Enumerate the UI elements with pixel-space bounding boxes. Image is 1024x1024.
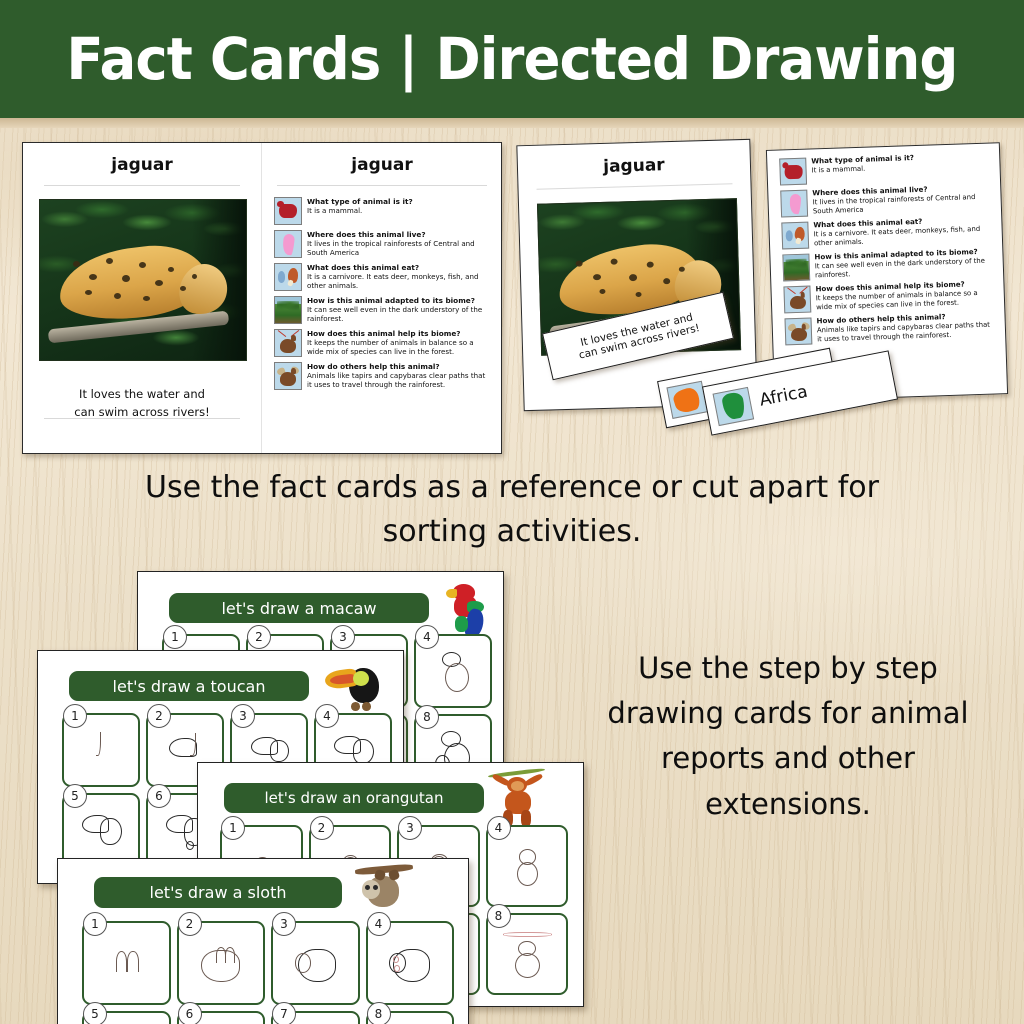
drawing-step-number: 6: [178, 1002, 202, 1024]
caption-line-1: It loves the water and: [23, 386, 261, 404]
fact-card-question: Where does this animal live?: [307, 230, 490, 239]
drawing-step-box[interactable]: 4: [486, 825, 569, 907]
cow-icon: [274, 197, 302, 225]
fact-card-answer: It keeps the number of animals in balanc…: [307, 338, 490, 356]
drawing-step-number: 8: [487, 904, 511, 928]
drawing-step-number: 5: [83, 1002, 107, 1024]
fact-card-qa-row: What type of animal is it?It is a mammal…: [274, 197, 490, 225]
fact-card-answer: It lives in the tropical rainforests of …: [307, 239, 490, 257]
fact-card-question: What does this animal eat?: [307, 263, 490, 272]
blurb-line-2: sorting activities.: [62, 510, 962, 554]
drawing-step-number: 7: [272, 1002, 296, 1024]
rabbit-arrows-icon: [274, 329, 302, 357]
fact-card-answer: Animals like tapirs and capybaras clear …: [307, 371, 490, 389]
poster-stage: Fact Cards | Directed Drawing jaguar: [0, 0, 1024, 1024]
drawing-step-number: 4: [487, 816, 511, 840]
fact-card-title: jaguar: [23, 155, 261, 175]
drawing-step-sketch: [500, 838, 553, 894]
jaguar-photo: [39, 199, 247, 361]
jaguar-spots: [40, 200, 246, 360]
drawing-step-box[interactable]: 8: [486, 913, 569, 995]
blurb-drawing-cards: Use the step by step drawing cards for a…: [578, 646, 998, 827]
drawing-step-number: 1: [221, 816, 245, 840]
fish-and-meat-icon: [274, 263, 302, 291]
rabbit-birds-icon: [274, 362, 302, 390]
fact-card-qa-row: How does this animal help its biome?It k…: [783, 279, 994, 313]
fact-card-qa-text: What does this animal eat?It is a carniv…: [813, 216, 992, 249]
fact-card-photo-page: jaguar: [23, 143, 261, 453]
cut-strip-label: Africa: [758, 382, 809, 411]
drawing-step-sketch: [98, 934, 155, 992]
drawing-step-sketch: [76, 725, 126, 775]
fact-card-qa-row: Where does this animal live?It lives in …: [780, 184, 991, 218]
divider: [537, 183, 733, 189]
divider: [277, 185, 487, 186]
drawing-card-banner: let's draw a toucan: [69, 671, 309, 701]
fact-card-spread[interactable]: jaguar: [22, 142, 502, 454]
drawing-step-sketch: [428, 646, 478, 696]
fact-card-qa-page: jaguar What type of animal is it?It is a…: [261, 143, 502, 453]
fact-card-qa-text: What does this animal eat?It is a carniv…: [307, 263, 490, 291]
drawing-step-number: 3: [398, 816, 422, 840]
fact-card-qa-row: Where does this animal live?It lives in …: [274, 230, 490, 258]
drawing-step-box[interactable]: 2: [177, 921, 266, 1005]
drawing-step-box[interactable]: 1: [82, 921, 171, 1005]
fact-card-qa-text: How do others help this animal?Animals l…: [816, 311, 995, 344]
drawing-step-sketch: [500, 926, 553, 982]
header-banner: Fact Cards | Directed Drawing: [0, 0, 1024, 118]
fact-card-qa-list: What type of animal is it?It is a mammal…: [779, 152, 995, 351]
caption-line-2: can swim across rivers!: [23, 404, 261, 422]
rabbit-birds-icon: [784, 318, 812, 346]
fact-card-answer: It is a mammal.: [307, 206, 490, 215]
drawing-step-number: 1: [83, 912, 107, 936]
sloth-icon: [353, 859, 415, 921]
drawing-card-sloth[interactable]: let's draw a sloth 12345678: [57, 858, 469, 1024]
fact-card-qa-text: Where does this animal live?It lives in …: [307, 230, 490, 258]
drawing-step-box[interactable]: 6: [177, 1011, 266, 1024]
fact-card-title: jaguar: [518, 153, 750, 179]
drawing-step-number: 2: [310, 816, 334, 840]
fact-card-answer: It is a carnivore. It eats deer, monkeys…: [307, 272, 490, 290]
drawing-step-box[interactable]: 5: [62, 793, 140, 867]
drawing-step-box[interactable]: 5: [82, 1011, 171, 1024]
fact-card-question: What type of animal is it?: [307, 197, 490, 206]
africa-map-icon: [712, 386, 754, 425]
fact-card-qa-text: What type of animal is it?It is a mammal…: [811, 152, 989, 176]
blurb-fact-cards: Use the fact cards as a reference or cut…: [62, 466, 962, 555]
fact-card-qa-text: Where does this animal live?It lives in …: [812, 184, 991, 217]
fact-card-qa-row: How does this animal help its biome?It k…: [274, 329, 490, 357]
drawing-card-banner: let's draw a sloth: [94, 877, 342, 908]
fact-card-qa-list: What type of animal is it?It is a mammal…: [274, 197, 490, 395]
drawing-step-number: 4: [367, 912, 391, 936]
drawing-step-box[interactable]: 8: [366, 1011, 455, 1024]
drawing-step-number: 2: [178, 912, 202, 936]
fact-card-qa-text: How is this animal adapted to its biome?…: [307, 296, 490, 324]
south-america-map-icon: [274, 230, 302, 258]
rainforest-biome-icon: [782, 254, 810, 282]
fact-card-qa-row: How is this animal adapted to its biome?…: [274, 296, 490, 324]
drawing-steps-grid: 12345678: [82, 921, 454, 1024]
fact-card-qa-text: How do others help this animal?Animals l…: [307, 362, 490, 390]
fact-card-qa-row: How do others help this animal?Animals l…: [784, 311, 995, 345]
drawing-step-box[interactable]: 1: [62, 713, 140, 787]
blurb-line-1: Use the fact cards as a reference or cut…: [62, 466, 962, 510]
drawing-step-number: 8: [367, 1002, 391, 1024]
rabbit-arrows-icon: [783, 286, 811, 314]
drawing-step-sketch: [287, 934, 344, 992]
south-america-map-icon: [780, 190, 808, 218]
fact-card-question: How is this animal adapted to its biome?: [307, 296, 490, 305]
fact-card-qa-row: What does this animal eat?It is a carniv…: [781, 216, 992, 250]
fact-card-qa-text: How does this animal help its biome?It k…: [815, 279, 994, 312]
blurb-line-1: Use the step by step: [578, 646, 998, 691]
divider: [44, 185, 240, 186]
fact-card-qa-text: How is this animal adapted to its biome?…: [814, 247, 993, 280]
wood-top-edge: [0, 118, 1024, 128]
rainforest-biome-icon: [274, 296, 302, 324]
fact-card-qa-row: How do others help this animal?Animals l…: [274, 362, 490, 390]
drawing-step-box[interactable]: 7: [271, 1011, 360, 1024]
blurb-line-3: reports and other: [578, 736, 998, 781]
drawing-step-sketch: [76, 805, 126, 855]
fact-card-qa-text: What type of animal is it?It is a mammal…: [307, 197, 490, 215]
fish-and-meat-icon: [781, 222, 809, 250]
fact-card-answer: It can see well even in the dark underst…: [307, 305, 490, 323]
drawing-step-box[interactable]: 3: [271, 921, 360, 1005]
page-title: Fact Cards | Directed Drawing: [66, 30, 957, 88]
fact-card-qa-text: How does this animal help its biome?It k…: [307, 329, 490, 357]
fact-card-qa-row: What type of animal is it?It is a mammal…: [779, 152, 990, 186]
drawing-step-sketch: [192, 934, 249, 992]
fact-card-question: How does this animal help its biome?: [307, 329, 490, 338]
drawing-step-number: 3: [272, 912, 296, 936]
blurb-line-2: drawing cards for animal: [578, 691, 998, 736]
fact-card-caption: It loves the water and can swim across r…: [23, 386, 261, 422]
drawing-card-banner: let's draw an orangutan: [224, 783, 484, 813]
drawing-step-sketch: [381, 934, 438, 992]
cow-icon: [779, 158, 807, 186]
fact-card-qa-row: How is this animal adapted to its biome?…: [782, 247, 993, 281]
fact-card-question: How do others help this animal?: [307, 362, 490, 371]
drawing-card-banner: let's draw a macaw: [169, 593, 429, 623]
drawing-step-box[interactable]: 4: [414, 634, 492, 708]
fact-card-qa-row: What does this animal eat?It is a carniv…: [274, 263, 490, 291]
blurb-line-4: extensions.: [578, 782, 998, 827]
drawing-step-box[interactable]: 4: [366, 921, 455, 1005]
fact-card-title: jaguar: [262, 155, 502, 175]
